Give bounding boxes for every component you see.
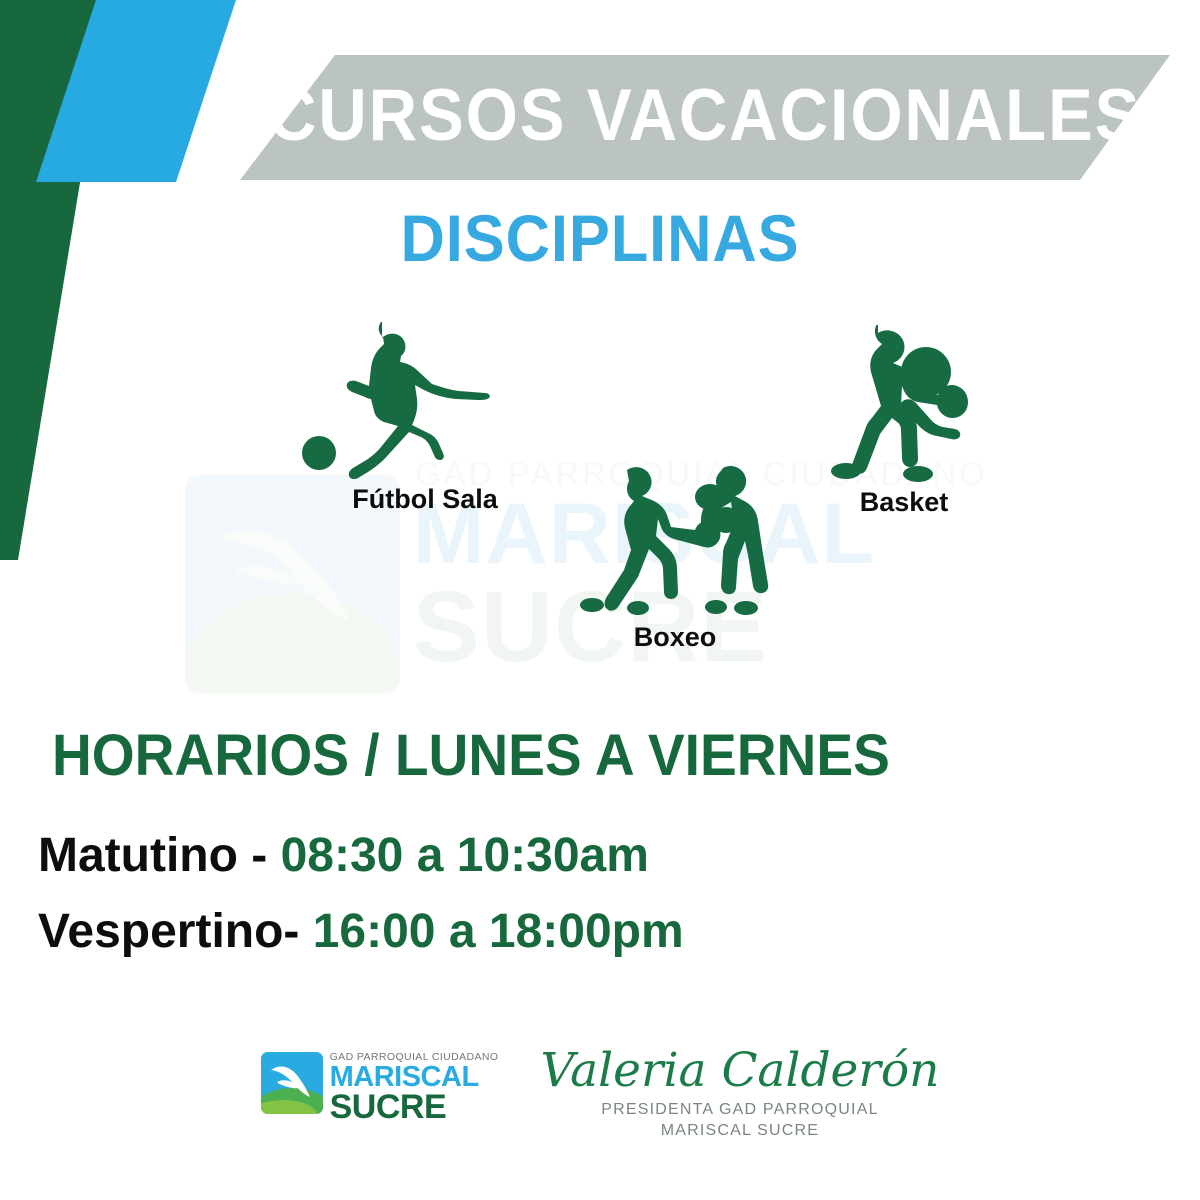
signature-role-line1: PRESIDENTA GAD PARROQUIAL [601,1101,878,1119]
schedule-time: 16:00 a 18:00pm [313,905,684,958]
title-banner: CURSOS VACACIONALES [240,55,1170,180]
discipline-boxeo: Boxeo [560,462,790,653]
discipline-label: Fútbol Sala [300,484,550,515]
schedule-name: Matutino - [38,829,281,882]
signature-role-line2: MARISCAL SUCRE [661,1122,819,1140]
boxers-icon [560,462,790,620]
logo-sucre: SUCRE [330,1091,499,1123]
watermark-hill [185,593,400,693]
organization-logo: GAD PARROQUIAL CIUDADANO MARISCAL SUCRE [261,1052,499,1123]
schedule-row-morning: Matutino - 08:30 a 10:30am [38,832,649,880]
schedule-row-afternoon: Vespertino- 16:00 a 18:00pm [38,908,684,956]
discipline-label: Boxeo [560,622,790,653]
schedule-heading: HORARIOS / LUNES A VIERNES [52,727,890,785]
logo-mariscal: MARISCAL [330,1064,499,1092]
poster-canvas: CURSOS VACACIONALES DISCIPLINAS GAD PARR… [0,0,1200,1200]
logo-wordmark: GAD PARROQUIAL CIUDADANO MARISCAL SUCRE [330,1052,499,1123]
schedule-name: Vespertino- [38,905,313,958]
basketball-player-icon [806,325,1002,485]
signature-name: Valeria Calderón [540,1046,939,1095]
section-title-disciplinas: DISCIPLINAS [42,205,1158,271]
signature-block: Valeria Calderón PRESIDENTA GAD PARROQUI… [540,1046,939,1140]
logo-badge-icon [261,1052,323,1114]
schedule-time: 08:30 a 10:30am [281,829,649,882]
page-title: CURSOS VACACIONALES [268,79,1141,156]
watermark-bird-icon [203,505,383,635]
footer: GAD PARROQUIAL CIUDADANO MARISCAL SUCRE … [0,1040,1200,1160]
discipline-futbol-sala: Fútbol Sala [300,322,550,515]
logo-bird-icon [265,1058,319,1108]
discipline-label: Basket [806,487,1002,518]
soccer-player-icon [300,322,550,482]
discipline-basket: Basket [806,325,1002,518]
